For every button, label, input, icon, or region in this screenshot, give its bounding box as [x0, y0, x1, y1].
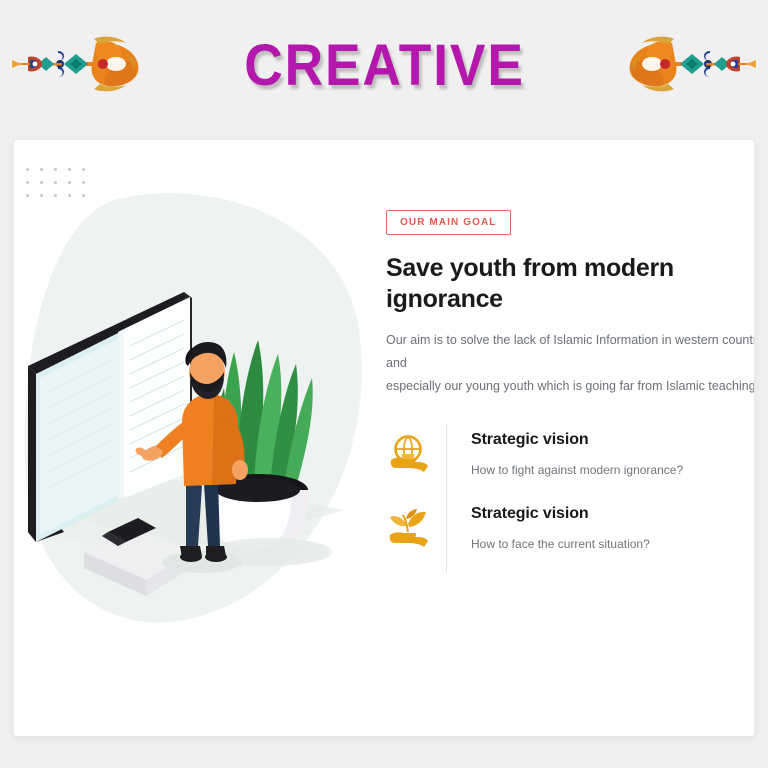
list-item-title: Strategic vision: [471, 430, 683, 449]
list-item-subtitle: How to fight against modern ignorance?: [471, 462, 683, 479]
main-content-card: OUR MAIN GOAL Save youth from modern ign…: [14, 140, 754, 736]
section-heading: Save youth from modern ignorance: [386, 253, 686, 315]
hand-holding-sprout-icon: [386, 506, 432, 552]
goal-content-column: OUR MAIN GOAL Save youth from modern ign…: [386, 210, 754, 572]
dot: [68, 168, 71, 171]
dot: [54, 168, 57, 171]
islamic-ornament-flourish-icon: [610, 33, 760, 95]
islamic-ornament-flourish-icon: [8, 33, 158, 95]
list-item-body: Strategic vision How to face the current…: [471, 498, 650, 552]
list-item-body: Strategic vision How to fight against mo…: [471, 424, 683, 478]
divider: [446, 424, 447, 498]
dot: [26, 168, 29, 171]
list-item-title: Strategic vision: [471, 504, 650, 523]
list-item[interactable]: Strategic vision How to fight against mo…: [386, 424, 754, 498]
section-description: Our aim is to solve the lack of Islamic …: [386, 329, 754, 398]
list-item-subtitle: How to face the current situation?: [471, 536, 650, 553]
hand-holding-globe-icon: [386, 432, 432, 478]
feature-list: Strategic vision How to fight against mo…: [386, 424, 754, 572]
status-badge: OUR MAIN GOAL: [386, 210, 511, 235]
page-title: CREATIVE: [244, 37, 525, 95]
divider: [446, 498, 447, 572]
page-header-banner: CREATIVE: [0, 0, 768, 132]
list-item[interactable]: Strategic vision How to face the current…: [386, 498, 754, 572]
dot: [82, 168, 85, 171]
dot: [40, 168, 43, 171]
hero-illustration: [14, 180, 394, 660]
